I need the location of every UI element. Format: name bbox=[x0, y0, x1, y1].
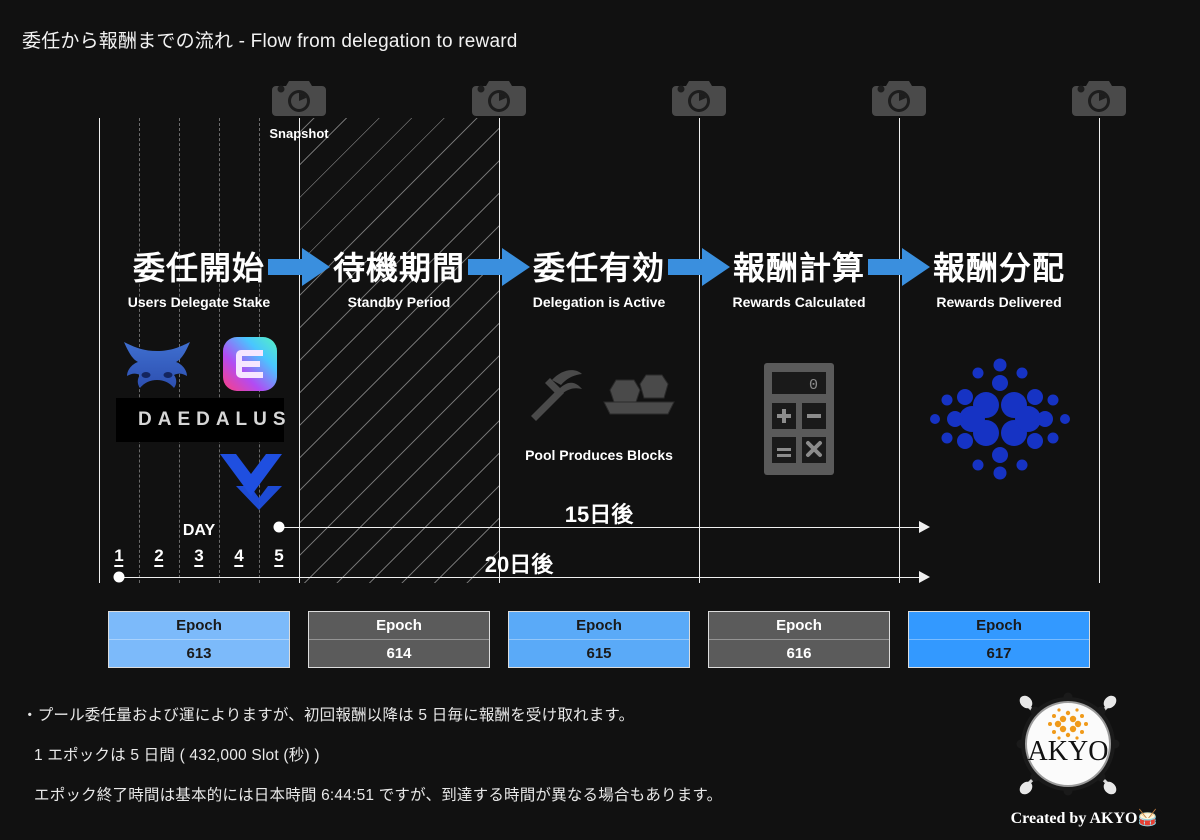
credit-line: Created by AKYO🥁 bbox=[968, 808, 1200, 828]
day-tick-3: 3 bbox=[194, 547, 203, 567]
stage-title-jp-3: 委任有効 bbox=[533, 243, 665, 289]
gold-bars-icon bbox=[600, 372, 678, 420]
diagram-canvas: 委任から報酬までの流れ - Flow from delegation to re… bbox=[0, 0, 1200, 840]
stage-arrow-3-icon bbox=[668, 245, 730, 289]
epoch-number-613: 613 bbox=[109, 640, 289, 667]
stage-title-en-4: Rewards Calculated bbox=[732, 294, 865, 310]
credit-text: Created by AKYO bbox=[1011, 810, 1138, 827]
standby-hatch-band bbox=[299, 118, 499, 583]
stage-arrow-2-icon bbox=[468, 245, 530, 289]
column-separator-end bbox=[1099, 118, 1100, 583]
measure-15-days-label: 15日後 bbox=[565, 497, 633, 529]
column-separator-epoch-613-start bbox=[99, 118, 100, 583]
calculator-display: 0 bbox=[809, 377, 818, 394]
footer-note-1: ・プール委任量および運によりますが、初回報酬以降は 5 日毎に報酬を受け取れます… bbox=[22, 703, 634, 725]
akyo-wordmark: AKYO bbox=[1028, 736, 1109, 767]
camera-icon-2 bbox=[472, 74, 526, 118]
measure-20-days-label: 20日後 bbox=[485, 547, 553, 579]
epoch-word-616: Epoch bbox=[709, 612, 889, 640]
epoch-number-617: 617 bbox=[909, 640, 1089, 667]
epoch-number-616: 616 bbox=[709, 640, 889, 667]
stage-title-en-3: Delegation is Active bbox=[533, 294, 666, 310]
epoch-box-614[interactable]: Epoch 614 bbox=[308, 611, 490, 668]
eternl-logo bbox=[222, 336, 278, 392]
stage-title-jp-4: 報酬計算 bbox=[733, 243, 865, 289]
day-tick-4: 4 bbox=[234, 547, 243, 567]
stage-title-jp-2: 待機期間 bbox=[333, 243, 465, 289]
stage-arrow-4-icon bbox=[868, 245, 930, 289]
measure-15-days-start-dot bbox=[274, 522, 285, 533]
snapshot-label: Snapshot bbox=[269, 126, 328, 141]
footer-note-2: 1 エポックは 5 日間 ( 432,000 Slot (秒) ) bbox=[34, 743, 320, 765]
daedalus-wordmark: DAEDALUS bbox=[138, 409, 292, 431]
measure-15-days-arrowhead bbox=[919, 521, 930, 533]
vespr-logo bbox=[218, 450, 284, 512]
yoroi-logo bbox=[118, 336, 196, 394]
stage-title-en-5: Rewards Delivered bbox=[936, 294, 1061, 310]
column-separator-epoch-616-start bbox=[699, 118, 700, 583]
measure-20-days-arrowhead bbox=[919, 571, 930, 583]
footer-note-3: エポック終了時間は基本的には日本時間 6:44:51 ですが、到達する時間が異な… bbox=[34, 783, 722, 805]
epoch-number-614: 614 bbox=[309, 640, 489, 667]
epoch-box-617[interactable]: Epoch 617 bbox=[908, 611, 1090, 668]
stage-title-jp-5: 報酬分配 bbox=[933, 243, 1065, 289]
column-separator-snapshot bbox=[299, 118, 300, 583]
camera-icon-snapshot bbox=[272, 74, 326, 118]
epoch-box-616[interactable]: Epoch 616 bbox=[708, 611, 890, 668]
epoch-number-615: 615 bbox=[509, 640, 689, 667]
cardano-logo bbox=[925, 343, 1075, 493]
stage-title-en-1: Users Delegate Stake bbox=[128, 294, 270, 310]
day-tick-2: 2 bbox=[154, 547, 163, 567]
daedalus-logo: DAEDALUS bbox=[116, 398, 284, 442]
pickaxe-icon bbox=[522, 360, 586, 422]
epoch-word-613: Epoch bbox=[109, 612, 289, 640]
epoch-word-617: Epoch bbox=[909, 612, 1089, 640]
column-separator-epoch-617-start bbox=[899, 118, 900, 583]
epoch-box-613[interactable]: Epoch 613 bbox=[108, 611, 290, 668]
pool-produces-blocks-label: Pool Produces Blocks bbox=[525, 447, 673, 463]
camera-icon-3 bbox=[672, 74, 726, 118]
day-tick-1: 1 bbox=[114, 547, 123, 567]
day-tick-5: 5 bbox=[274, 547, 283, 567]
camera-icon-5 bbox=[1072, 74, 1126, 118]
epoch-word-615: Epoch bbox=[509, 612, 689, 640]
taiko-drum-icon: 🥁 bbox=[1137, 810, 1157, 827]
stage-title-jp-1: 委任開始 bbox=[133, 243, 265, 289]
epoch-box-615[interactable]: Epoch 615 bbox=[508, 611, 690, 668]
camera-icon-4 bbox=[872, 74, 926, 118]
measure-20-days-start-dot bbox=[114, 572, 125, 583]
akyo-logo: AKYO bbox=[1008, 688, 1128, 800]
day-ruler-label: DAY bbox=[183, 522, 215, 540]
stage-arrow-1-icon bbox=[268, 245, 330, 289]
column-separator-epoch-615-start bbox=[499, 118, 500, 583]
calculator-icon: 0 bbox=[764, 363, 834, 475]
timeline-diagram: Snapshot 委任開始 Users Delegate Stake 待機期間 … bbox=[0, 0, 1200, 690]
day-separator-3 bbox=[219, 118, 220, 583]
stage-title-en-2: Standby Period bbox=[348, 294, 451, 310]
epoch-word-614: Epoch bbox=[309, 612, 489, 640]
